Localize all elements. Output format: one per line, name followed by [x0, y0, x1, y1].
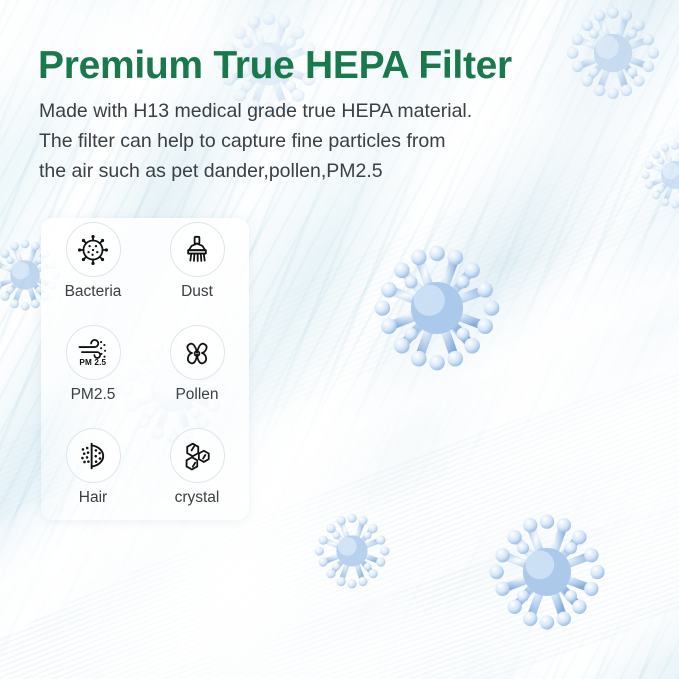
- hero-description: Made with H13 medical grade true HEPA ma…: [39, 96, 509, 186]
- hair-filter-icon: [76, 439, 110, 473]
- pm25-icon-text: PM 2.5: [79, 358, 106, 367]
- hero-description-line-2: The filter can help to capture fine part…: [39, 126, 509, 156]
- feature-item-crystal[interactable]: crystal: [145, 428, 249, 531]
- feature-item-dust[interactable]: Dust: [145, 222, 249, 325]
- dust-broom-icon-badge: [170, 222, 225, 277]
- feature-item-hair[interactable]: Hair: [41, 428, 145, 531]
- crystal-hexagon-icon: [180, 439, 214, 473]
- pm25-icon: PM 2.5: [74, 336, 112, 370]
- bacteria-icon: [76, 233, 110, 267]
- feature-label-pm25: PM2.5: [71, 387, 116, 403]
- feature-item-pollen[interactable]: Pollen: [145, 325, 249, 428]
- pm25-icon-badge: PM 2.5: [66, 325, 121, 380]
- pollen-icon: [180, 336, 214, 370]
- feature-label-pollen: Pollen: [175, 387, 218, 403]
- hero-description-line-3: the air such as pet dander,pollen,PM2.5: [39, 156, 509, 186]
- crystal-hexagon-icon-badge: [170, 428, 225, 483]
- feature-label-hair: Hair: [79, 490, 107, 506]
- feature-label-crystal: crystal: [175, 490, 220, 506]
- feature-icon-grid: Bacteria Dust: [41, 222, 249, 531]
- feature-item-bacteria[interactable]: Bacteria: [41, 222, 145, 325]
- hair-filter-icon-badge: [66, 428, 121, 483]
- hero-description-line-1: Made with H13 medical grade true HEPA ma…: [39, 96, 509, 126]
- bacteria-icon-badge: [66, 222, 121, 277]
- feature-label-bacteria: Bacteria: [65, 284, 122, 300]
- hepa-filter-promo-image: Premium True HEPA Filter Made with H13 m…: [0, 0, 679, 679]
- page-title: Premium True HEPA Filter: [38, 44, 512, 88]
- dust-broom-icon: [180, 233, 214, 267]
- feature-label-dust: Dust: [181, 284, 213, 300]
- feature-item-pm25[interactable]: PM 2.5 PM2.5: [41, 325, 145, 428]
- pollen-icon-badge: [170, 325, 225, 380]
